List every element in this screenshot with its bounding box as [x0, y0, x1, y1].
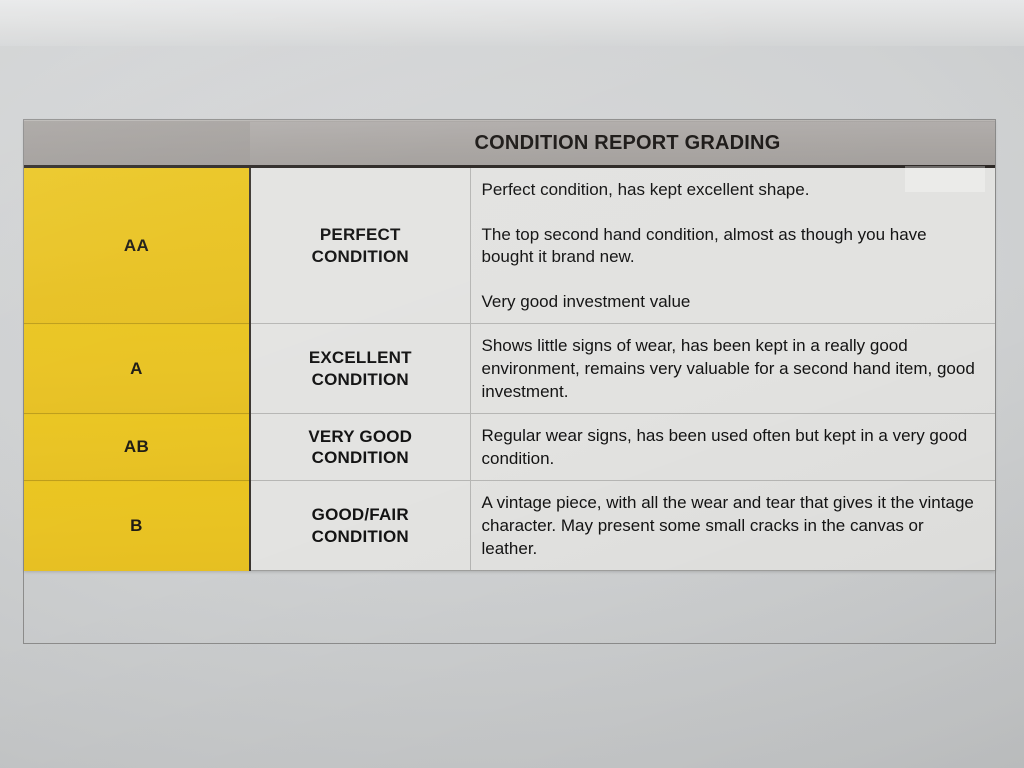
table-row: A EXCELLENT CONDITION Shows little signs…	[24, 324, 995, 414]
condition-name-line1: PERFECT	[320, 225, 401, 244]
condition-description-aa: Perfect condition, has kept excellent sh…	[470, 167, 995, 324]
condition-description-b: A vintage piece, with all the wear and t…	[470, 481, 995, 571]
page-title: CONDITION REPORT GRADING	[24, 121, 995, 165]
table-row: AA PERFECT CONDITION Perfect condition, …	[24, 167, 995, 324]
condition-name-a: EXCELLENT CONDITION	[250, 324, 470, 414]
grade-label-ab: AB	[24, 414, 250, 481]
grade-label-aa: AA	[24, 167, 250, 324]
condition-name-ab: VERY GOOD CONDITION	[250, 414, 470, 481]
condition-report-grading-table: CONDITION REPORT GRADING AA PERFECT COND…	[24, 120, 995, 571]
description-paragraph: Shows little signs of wear, has been kep…	[482, 335, 984, 403]
condition-description-ab: Regular wear signs, has been used often …	[470, 414, 995, 481]
grade-label-b: B	[24, 481, 250, 571]
condition-description-a: Shows little signs of wear, has been kep…	[470, 324, 995, 414]
condition-name-aa: PERFECT CONDITION	[250, 167, 470, 324]
condition-name-line2: CONDITION	[312, 247, 409, 266]
description-paragraph: Regular wear signs, has been used often …	[482, 425, 984, 470]
condition-name-line1: VERY GOOD	[308, 427, 412, 446]
condition-name-b: GOOD/FAIR CONDITION	[250, 481, 470, 571]
description-paragraph: The top second hand condition, almost as…	[482, 224, 984, 269]
table-row: AB VERY GOOD CONDITION Regular wear sign…	[24, 414, 995, 481]
table-header-row: CONDITION REPORT GRADING	[24, 121, 995, 167]
table-header-cell: CONDITION REPORT GRADING	[24, 121, 995, 167]
table-body: AA PERFECT CONDITION Perfect condition, …	[24, 167, 995, 571]
description-paragraph: Perfect condition, has kept excellent sh…	[482, 179, 984, 202]
description-paragraph: A vintage piece, with all the wear and t…	[482, 492, 984, 560]
description-paragraph: Very good investment value	[482, 291, 984, 314]
condition-name-line2: CONDITION	[312, 370, 409, 389]
condition-name-line1: EXCELLENT	[309, 348, 412, 367]
grade-label-a: A	[24, 324, 250, 414]
condition-name-line1: GOOD/FAIR	[312, 505, 409, 524]
condition-name-line2: CONDITION	[312, 527, 409, 546]
table-row: B GOOD/FAIR CONDITION A vintage piece, w…	[24, 481, 995, 571]
condition-name-line2: CONDITION	[312, 448, 409, 467]
